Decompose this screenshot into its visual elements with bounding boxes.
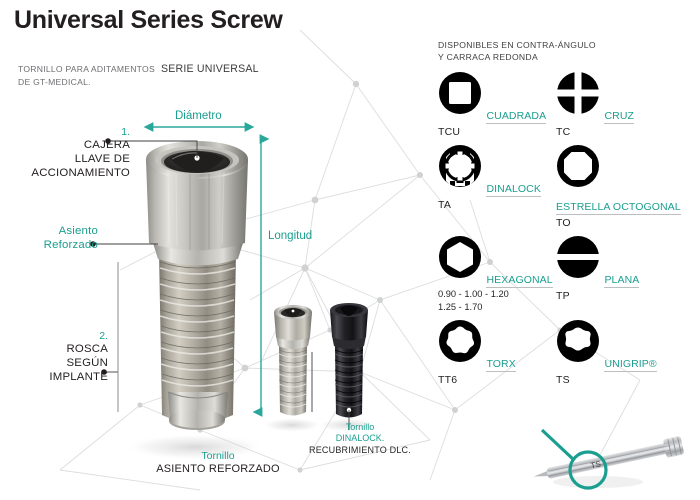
screwdriver-tool-graphic: TS: [528, 424, 700, 496]
drive-name-estrella-octogonal: ESTRELLA OCTOGONAL: [556, 201, 681, 215]
drive-option-cuadrada[interactable]: CUADRADA TCU: [438, 71, 556, 138]
callout-rosca-line-2: SEGÚN: [0, 357, 108, 371]
drive-option-estrella-octogonal[interactable]: ESTRELLA OCTOGONAL TO: [556, 144, 674, 229]
page-title: Universal Series Screw: [14, 6, 283, 35]
drive-name-plana: PLANA: [604, 274, 639, 288]
drive-name-cuadrada: CUADRADA: [486, 110, 546, 124]
drive-code-plana: TP: [556, 290, 674, 302]
cross-drive-icon: [556, 71, 600, 115]
drive-name-cruz: CRUZ: [604, 110, 634, 124]
panel-heading-line-1: DISPONIBLES EN CONTRA-ÁNGULO: [438, 40, 688, 52]
square-drive-icon: [438, 71, 482, 115]
flat-drive-icon: [556, 235, 600, 279]
torx-drive-icon: [438, 319, 482, 363]
drive-code-dinalock: TA: [438, 199, 556, 211]
drive-code-torx: TT6: [438, 374, 556, 386]
drive-name-unigrip: UNIGRIP®: [604, 358, 656, 372]
callout-cajera-number: 1.: [0, 126, 130, 139]
driver-tool-marking: TS: [590, 459, 602, 470]
panel-heading: DISPONIBLES EN CONTRA-ÁNGULO Y CARRACA R…: [438, 40, 688, 63]
drive-option-plana[interactable]: PLANA TP: [556, 235, 674, 313]
caption-dinalock-teal-1: Tornillo: [280, 422, 440, 433]
callout-cajera: 1. CAJERA LLAVE DE ACCIONAMIENTO: [0, 126, 130, 181]
panel-heading-line-2: Y CARRACA REDONDA: [438, 52, 688, 64]
callout-cajera-line-3: ACCIONAMIENTO: [0, 167, 130, 181]
infographic-canvas: Universal Series Screw TORNILLO PARA ADI…: [0, 0, 700, 500]
callout-cajera-line-2: LLAVE DE: [0, 153, 130, 167]
drive-option-cruz[interactable]: CRUZ TC: [556, 71, 674, 138]
drive-types-grid: CUADRADA TCU CRUZ TC: [438, 71, 688, 386]
intro-copy: TORNILLO PARA ADITAMENTOS SERIE UNIVERSA…: [18, 63, 259, 87]
callout-rosca-line-3: IMPLANTE: [0, 371, 108, 385]
drive-sizes-hexagonal-line-2: 1.25 - 1.70: [438, 302, 556, 313]
drive-option-hexagonal[interactable]: HEXAGONAL 0.90 - 1.00 - 1.20 1.25 - 1.70: [438, 235, 556, 313]
hexagonal-drive-icon: [438, 235, 482, 279]
intro-second-line: DE GT-MEDICAL.: [18, 77, 259, 87]
length-label: Longitud: [268, 230, 312, 242]
drive-types-panel: DISPONIBLES EN CONTRA-ÁNGULO Y CARRACA R…: [438, 40, 688, 386]
callout-rosca-line-1: ROSCA: [0, 343, 108, 357]
caption-dinalock-teal-2: DINALOCK.: [280, 433, 440, 444]
driver-highlight-leader: [542, 430, 574, 460]
drive-name-dinalock: DINALOCK: [486, 183, 540, 197]
intro-emphasis-text: SERIE UNIVERSAL: [161, 63, 259, 75]
caption-dinalock-dark: RECUBRIMIENTO DLC.: [280, 445, 440, 456]
drive-code-estrella-octogonal: TO: [556, 217, 674, 229]
octagonal-star-drive-icon: [556, 144, 600, 188]
callout-asiento-line-2: Reforzado: [0, 239, 98, 253]
unigrip-drive-icon: [556, 319, 600, 363]
callout-asiento-line-1: Asiento: [0, 225, 98, 239]
diameter-label: Diámetro: [175, 110, 222, 122]
drive-option-dinalock[interactable]: DINALOCK TA: [438, 144, 556, 229]
drive-name-hexagonal: HEXAGONAL: [486, 274, 552, 288]
drive-name-torx: TORX: [486, 358, 515, 372]
caption-main-screw-dark: ASIENTO REFORZADO: [118, 463, 318, 477]
dinalock-drive-icon: [438, 144, 482, 188]
drive-option-unigrip[interactable]: UNIGRIP® TS: [556, 319, 674, 386]
drive-code-cruz: TC: [556, 126, 674, 138]
callout-rosca: 2. ROSCA SEGÚN IMPLANTE: [0, 330, 108, 385]
caption-dinalock-screw: Tornillo DINALOCK. RECUBRIMIENTO DLC.: [280, 422, 440, 456]
drive-option-torx[interactable]: TORX TT6: [438, 319, 556, 386]
callout-asiento-reforzado: Asiento Reforzado: [0, 225, 98, 253]
callout-rosca-number: 2.: [0, 330, 108, 343]
drive-code-unigrip: TS: [556, 374, 674, 386]
drive-code-cuadrada: TCU: [438, 126, 556, 138]
callout-cajera-line-1: CAJERA: [0, 139, 130, 153]
drive-sizes-hexagonal-line-1: 0.90 - 1.00 - 1.20: [438, 289, 556, 300]
intro-small-text: TORNILLO PARA ADITAMENTOS: [18, 64, 155, 74]
